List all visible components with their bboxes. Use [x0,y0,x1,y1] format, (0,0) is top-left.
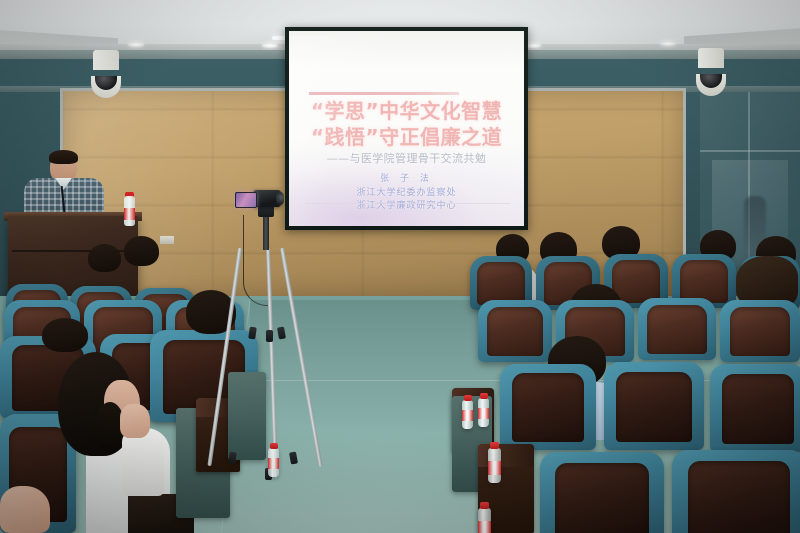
audience-head [124,236,159,266]
screen-glare [289,36,419,226]
water-bottle[interactable] [478,398,489,427]
bottle-cap [480,502,489,509]
dome-housing [696,74,726,96]
seat-back-pad [680,260,729,303]
seat[interactable] [478,300,552,362]
bottle-cap [270,443,278,449]
bottle-label [462,410,473,421]
seat[interactable] [500,364,596,450]
seat-back-pad [487,307,543,357]
seat-back-pad [555,463,649,533]
foreground-person-arm [122,430,164,496]
bottle-cap [490,442,499,449]
water-bottle[interactable] [478,508,491,533]
seat-back-pad [512,373,585,442]
dome-housing [91,76,121,98]
seat[interactable] [540,452,664,533]
armrest-top [478,444,534,467]
bottle-label [478,521,491,533]
projection-screen-frame: “学思”中华文化智慧 “践悟”守正倡廉之道 ——与医学院管理骨干交流共勉 张 子… [285,27,528,230]
dome-mount [698,48,724,68]
audience-head [42,318,88,352]
seat-side-panel [228,372,266,460]
seat[interactable] [710,364,800,452]
downlight-icon [128,42,144,47]
seat-back-pad [616,372,692,442]
seat[interactable] [672,450,800,533]
projection-screen: “学思”中华文化智慧 “践悟”守正倡廉之道 ——与医学院管理骨干交流共勉 张 子… [289,31,524,226]
water-bottle[interactable] [488,448,501,483]
seat[interactable] [638,298,716,360]
foreground-second-person-hand [0,486,50,533]
camera-lens-icon [95,76,117,90]
dome-mount [93,50,119,70]
bottle-cap [464,395,472,401]
glass-rail [700,150,800,152]
seat-back-pad [647,305,706,355]
camcorder-lens-icon [276,192,284,205]
water-bottle[interactable] [462,400,473,429]
camera-lens-icon [700,74,722,88]
wall-socket[interactable] [160,236,174,244]
tripod-leg-lock[interactable] [266,330,273,342]
camera-cable [243,215,268,306]
bottle-label [488,461,501,475]
seat-back-pad [730,307,791,357]
dome-camera-left [93,50,121,98]
lecture-hall-photo: “学思”中华文化智慧 “践悟”守正倡廉之道 ——与医学院管理骨干交流共勉 张 子… [0,0,800,533]
bottle-label [478,408,489,419]
seat[interactable] [604,362,704,450]
camcorder-lcd-screen[interactable] [235,192,257,208]
seat-back-pad [688,461,790,533]
bottle-label [268,458,279,469]
downlight-icon [660,41,676,46]
dome-camera-right [698,48,726,96]
downlight-icon [262,43,278,48]
foreground-person-hand [120,404,150,438]
seat-back-pad [722,374,795,444]
seat-back-pad [477,262,524,305]
seat[interactable] [720,300,800,362]
podium-bottle-label [124,208,135,220]
speaker-hair [49,150,78,164]
audience-head [88,244,121,272]
bottle-cap [480,393,488,399]
water-bottle[interactable] [268,448,279,477]
